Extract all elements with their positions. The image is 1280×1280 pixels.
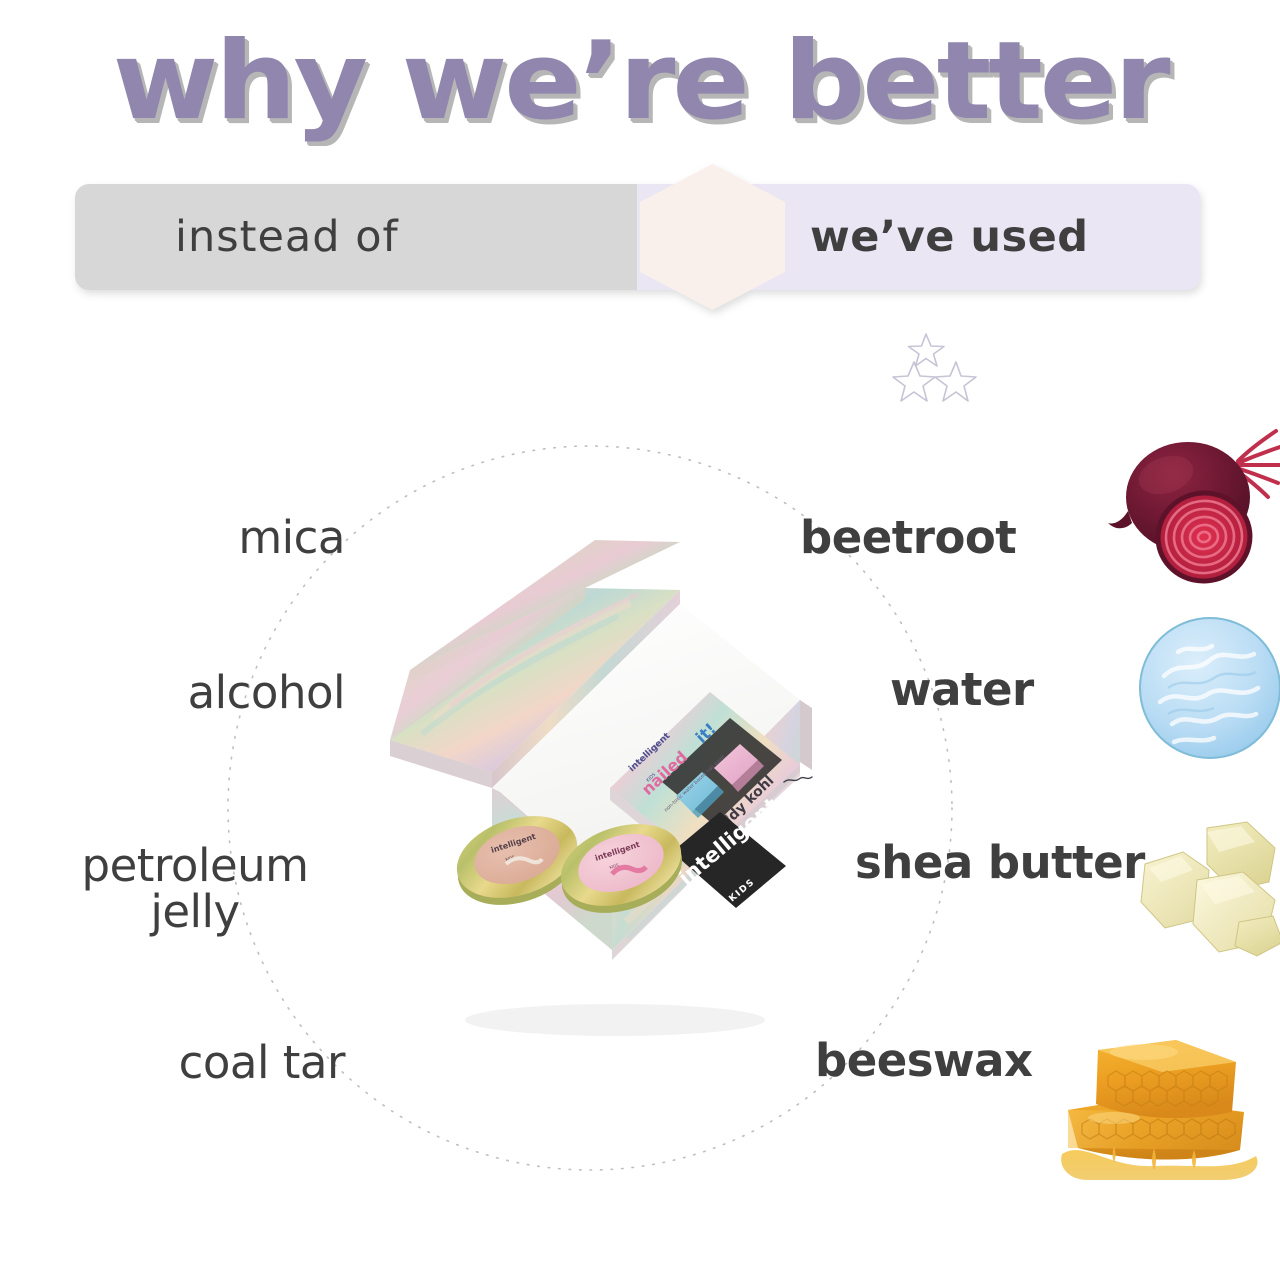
used-label-shea-butter: shea butter (855, 840, 1145, 886)
product-gift-box-photo: intelligent KIDS nailed it! non-toxic wa… (380, 520, 820, 1050)
used-label-beeswax: beeswax (815, 1038, 1033, 1084)
avoid-label-mica: mica (238, 515, 345, 561)
beetroot-photo (1098, 425, 1280, 600)
used-label-water: water (890, 667, 1034, 713)
infographic-canvas: why we’re better instead of we’ve used m… (0, 0, 1280, 1280)
avoid-label-coal-tar: coal tar (179, 1040, 345, 1086)
water-gel-photo (1138, 610, 1280, 765)
shea-butter-photo (1135, 818, 1280, 958)
avoid-label-petroleum-jelly: petroleum jelly (45, 843, 345, 935)
used-label-beetroot: beetroot (800, 515, 1016, 561)
honeycomb-photo (1044, 1028, 1272, 1188)
avoid-label-alcohol: alcohol (188, 670, 345, 716)
